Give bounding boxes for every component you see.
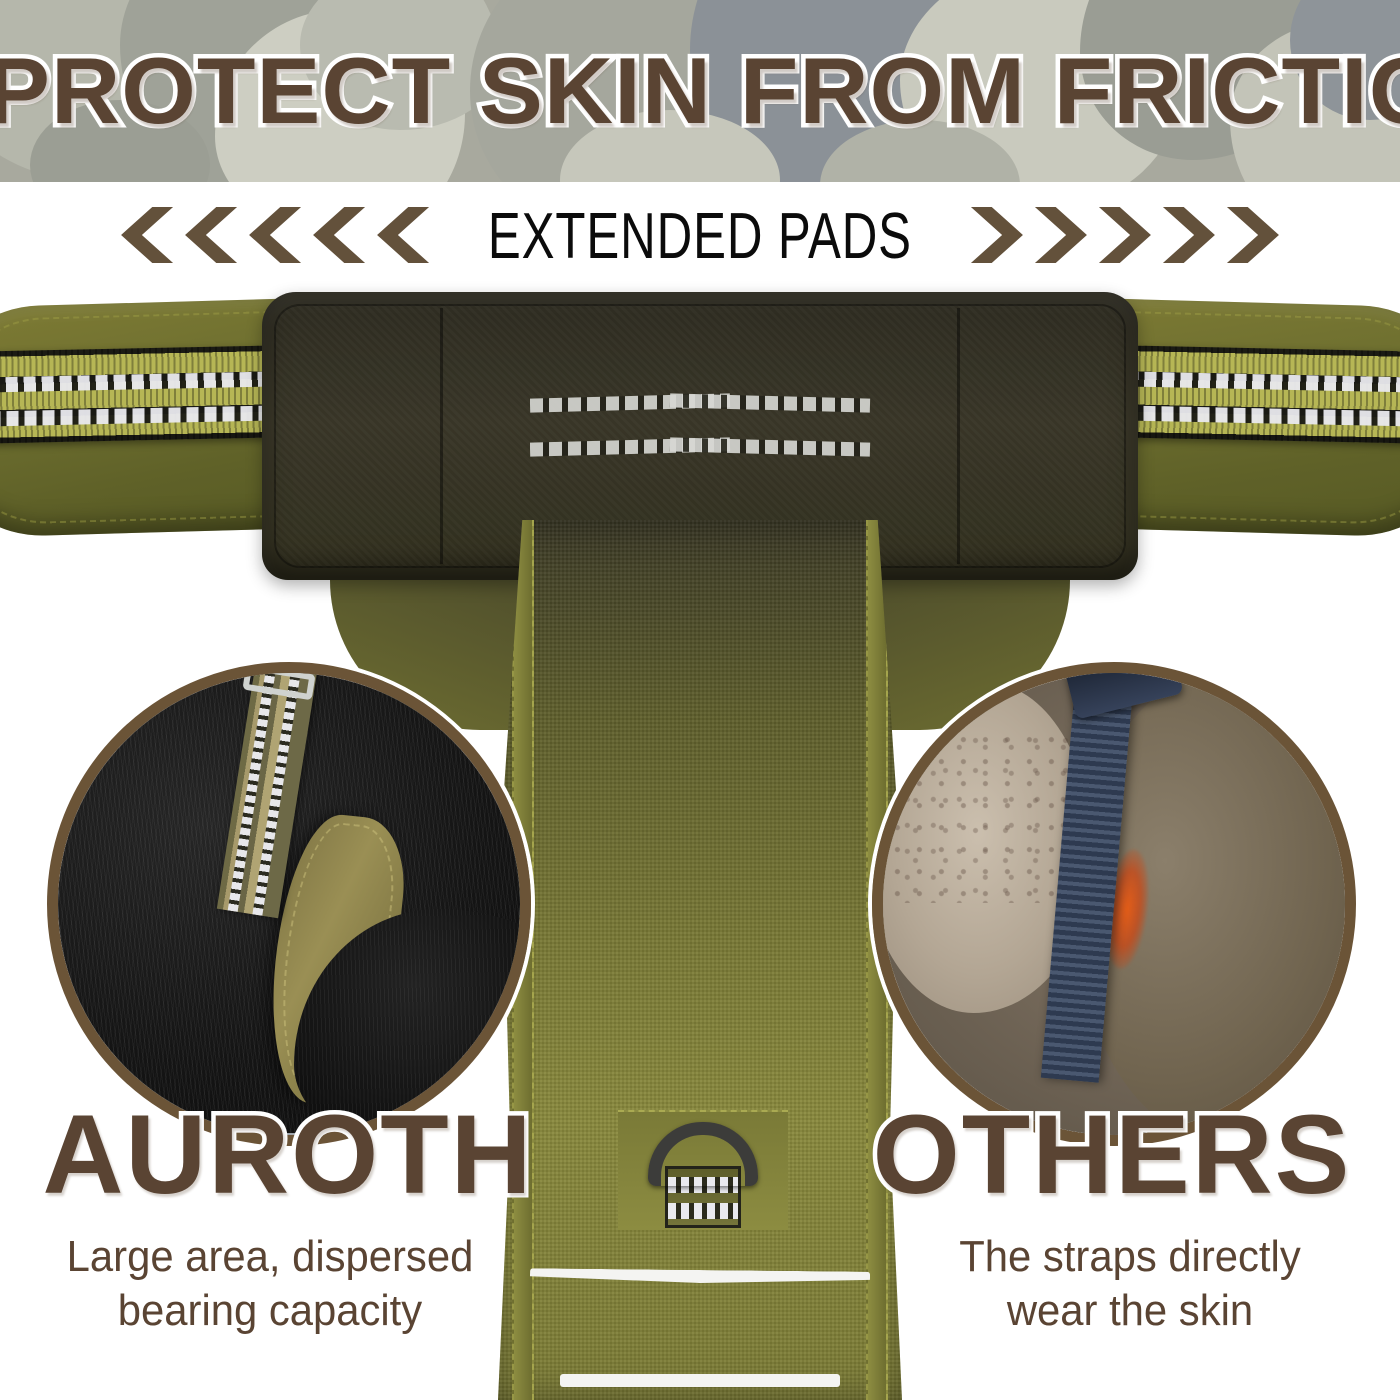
reflective-dash-row [670,393,870,412]
caption-line: wear the skin [864,1284,1396,1338]
product-infographic: PROTECT SKIN FROM FRICTION EXTENDED PADS [0,0,1400,1400]
brand-label-others: OTHERS [812,1100,1400,1210]
caption-line: The straps directly [864,1230,1396,1284]
pad-seam [440,308,443,564]
chevron-left-icon [121,207,173,263]
caption-others: The straps directly wear the skin [864,1230,1396,1338]
caption-line: bearing capacity [4,1284,536,1338]
comparison-photo-others [872,662,1356,1146]
chevron-right-icon [1035,207,1087,263]
chevron-right-icon [1227,207,1279,263]
chevron-left-icon [377,207,429,263]
subtitle-label: EXTENDED PADS [467,197,933,272]
reflective-dash-row [670,437,870,456]
comparison-photo-auroth [47,662,531,1146]
page-title: PROTECT SKIN FROM FRICTION [0,38,1400,148]
subtitle-row: EXTENDED PADS [0,190,1400,280]
pad-seam [957,308,960,564]
chevron-right-icon [1099,207,1151,263]
chevron-left-icon [249,207,301,263]
chevron-right-icon [971,207,1023,263]
chevron-right-icon [1163,207,1215,263]
chevron-left-icon [313,207,365,263]
caption-auroth: Large area, dispersed bearing capacity [4,1230,536,1338]
brand-label-auroth: AUROTH [0,1100,588,1210]
reflective-strip [560,1374,840,1387]
caption-line: Large area, dispersed [4,1230,536,1284]
chevron-left-icon [185,207,237,263]
harness-body-panel [498,520,902,1400]
